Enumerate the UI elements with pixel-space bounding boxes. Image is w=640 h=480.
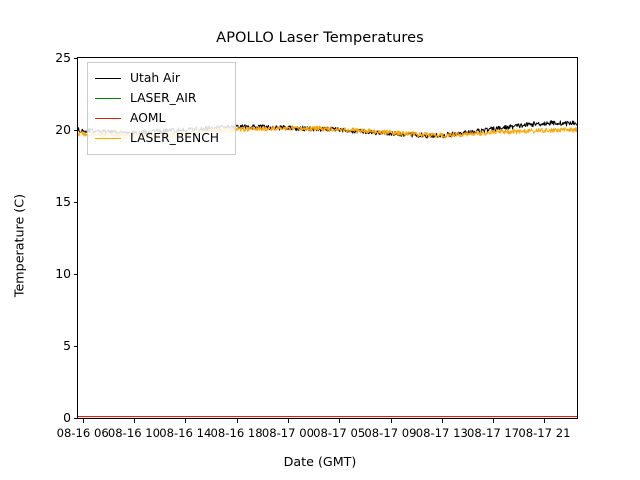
x-axis-tick-mark [288,419,289,423]
x-axis-tick-label: 08-17 13 [416,427,468,440]
x-axis-tick-mark [391,419,392,423]
y-axis-tick-labels: 0510152025 [28,0,71,480]
legend-line-swatch [95,78,121,79]
x-axis-tick-mark [237,419,238,423]
legend-item-utah-air: Utah Air [88,68,235,88]
legend-line-swatch [95,138,121,139]
legend-item-aoml: AOML [88,108,235,128]
x-axis-tick-label: 08-16 14 [159,427,211,440]
x-axis-tick-mark [185,419,186,423]
y-axis-label: Temperature (C) [12,96,27,396]
legend-label: AOML [130,111,165,125]
y-axis-tick-label: 10 [31,268,71,280]
x-axis-tick-label: 08-16 06 [57,427,109,440]
y-axis-tick-label: 20 [31,124,71,136]
y-axis-tick-label: 5 [31,340,71,352]
x-axis-label: Date (GMT) [0,454,640,469]
chart-legend: Utah AirLASER_AIRAOMLLASER_BENCH [87,62,236,155]
y-axis-tick-label: 15 [31,196,71,208]
x-axis-tick-label: 08-17 21 [518,427,570,440]
x-axis-tick-mark [442,419,443,423]
x-axis-tick-label: 08-17 05 [313,427,365,440]
x-axis-tick-label: 08-16 18 [211,427,263,440]
legend-label: LASER_BENCH [130,131,219,145]
chart-title: APOLLO Laser Temperatures [0,30,640,46]
legend-line-swatch [95,98,121,99]
x-axis-tick-mark [339,419,340,423]
y-axis-tick-label: 25 [31,52,71,64]
x-axis-tick-label: 08-17 17 [467,427,519,440]
legend-line-swatch [95,118,121,119]
x-axis-tick-mark [83,419,84,423]
legend-label: Utah Air [130,71,180,85]
x-axis-tick-label: 08-17 00 [262,427,314,440]
x-axis-tick-label: 08-16 10 [108,427,160,440]
x-axis-tick-mark [134,419,135,423]
legend-item-laser-air: LASER_AIR [88,88,235,108]
legend-label: LASER_AIR [130,91,196,105]
y-axis-tick-label: 0 [31,412,71,424]
x-axis-tick-mark [544,419,545,423]
matplotlib-figure: APOLLO Laser Temperatures Temperature (C… [0,0,640,480]
legend-item-laser-bench: LASER_BENCH [88,128,235,148]
x-axis-tick-mark [493,419,494,423]
x-axis-tick-label: 08-17 09 [364,427,416,440]
